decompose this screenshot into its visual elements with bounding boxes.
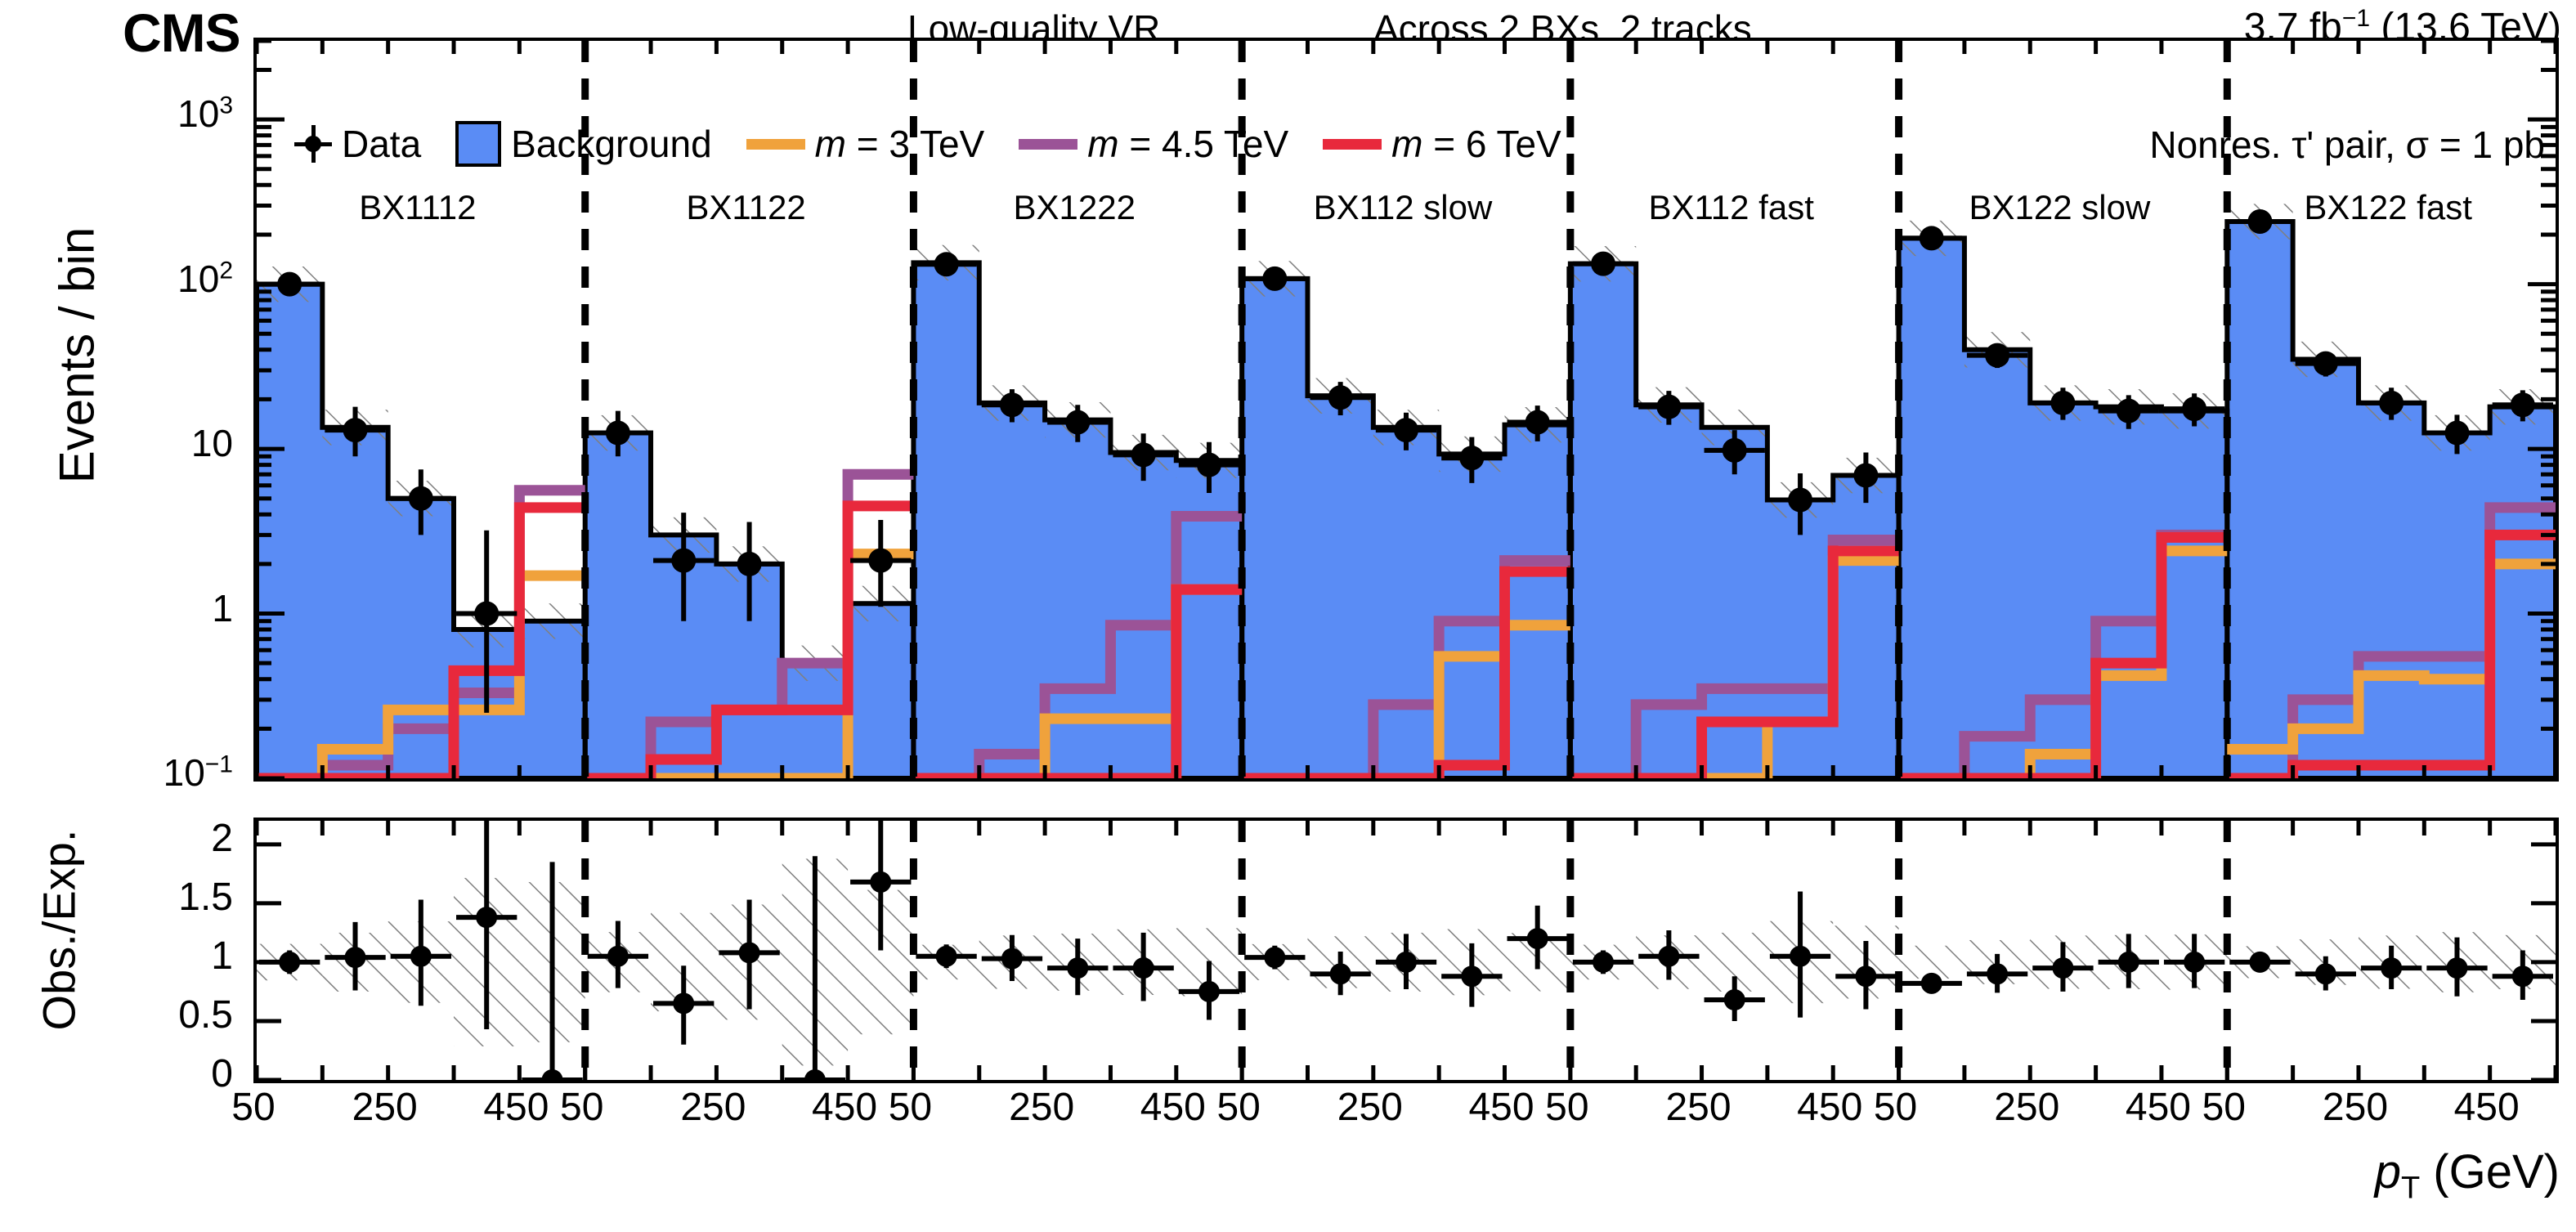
y-tick-main-0: 103: [49, 92, 233, 136]
region-label-bx112-slow: BX112 slow: [1239, 188, 1567, 227]
y-tick-main-3: 1: [49, 586, 233, 630]
signal-3tev-swatch-icon: [746, 139, 805, 150]
x-tick-5-1: 250: [1978, 1085, 2076, 1130]
y-tick-ratio-3: 0.5: [57, 992, 233, 1037]
x-tick-3-0: 50: [1189, 1085, 1288, 1130]
legend-label-sig-6tev: m = 6 TeV: [1391, 122, 1561, 166]
x-tick-4-1: 250: [1650, 1085, 1748, 1130]
region-label-bx122-fast: BX122 fast: [2224, 188, 2552, 227]
y-tick-ratio-1: 1.5: [57, 875, 233, 920]
x-tick-0-1: 250: [336, 1085, 434, 1130]
y-tick-ratio-0: 2: [57, 816, 233, 861]
x-axis-title-unit: (GeV): [2420, 1145, 2560, 1198]
lumi-exponent: −1: [2342, 5, 2370, 32]
x-tick-5-0: 50: [1847, 1085, 1945, 1130]
legend-label-data: Data: [342, 122, 421, 166]
legend-label-sig-45tev: m = 4.5 TeV: [1087, 122, 1288, 166]
x-tick-2-0: 50: [861, 1085, 959, 1130]
y-tick-main-4: 10−1: [49, 750, 233, 795]
y-tick-main-2: 10: [49, 421, 233, 465]
background-stack-fill: [257, 222, 2556, 778]
cms-plot-figure: CMS Low-quality VR Across 2 BXs, 2 track…: [0, 0, 2576, 1232]
legend: Data Background m = 3 TeV m = 4.5 TeV m …: [294, 121, 1596, 167]
legend-item-sig-3tev: m = 3 TeV: [746, 122, 985, 166]
x-axis-title: pT (GeV): [2375, 1145, 2560, 1207]
ratio-plot-canvas: [257, 821, 2556, 1080]
legend-label-background: Background: [511, 122, 712, 166]
region-label-bx1122: BX1122: [582, 188, 911, 227]
x-tick-1-1: 250: [664, 1085, 762, 1130]
region-label-bx122-slow: BX122 slow: [1896, 188, 2224, 227]
x-axis-title-sub: T: [2401, 1172, 2420, 1206]
y-axis-title-main: Events / bin: [49, 127, 105, 585]
cms-logo: CMS: [123, 2, 240, 64]
y-tick-main-1: 102: [49, 257, 233, 301]
legend-signal-normalization: Nonres. τ' pair, σ = 1 pb: [2149, 123, 2545, 167]
background-swatch-icon: [455, 121, 501, 167]
legend-item-background: Background: [455, 121, 712, 167]
x-axis-title-p: p: [2375, 1145, 2401, 1198]
region-label-bx1112: BX1112: [253, 188, 582, 227]
signal-6tev-swatch-icon: [1323, 139, 1382, 150]
region-label-bx112-fast: BX112 fast: [1567, 188, 1896, 227]
x-tick-1-0: 50: [533, 1085, 631, 1130]
data-marker-icon: [294, 125, 332, 163]
legend-item-data: Data: [294, 122, 421, 166]
legend-item-sig-45tev: m = 4.5 TeV: [1019, 122, 1288, 166]
x-tick-6-0: 50: [2175, 1085, 2273, 1130]
signal-4p5tev-swatch-icon: [1019, 139, 1077, 150]
region-label-bx1222: BX1222: [910, 188, 1239, 227]
legend-label-sig-3tev: m = 3 TeV: [815, 122, 985, 166]
x-tick-0-0: 50: [204, 1085, 302, 1130]
x-tick-6-1: 250: [2306, 1085, 2404, 1130]
x-tick-6-2: 450: [2438, 1085, 2536, 1130]
x-tick-2-1: 250: [992, 1085, 1091, 1130]
legend-item-sig-6tev: m = 6 TeV: [1323, 122, 1561, 166]
x-tick-3-1: 250: [1321, 1085, 1419, 1130]
ratio-panel: [253, 818, 2559, 1083]
x-tick-4-0: 50: [1518, 1085, 1616, 1130]
y-tick-ratio-2: 1: [57, 934, 233, 979]
